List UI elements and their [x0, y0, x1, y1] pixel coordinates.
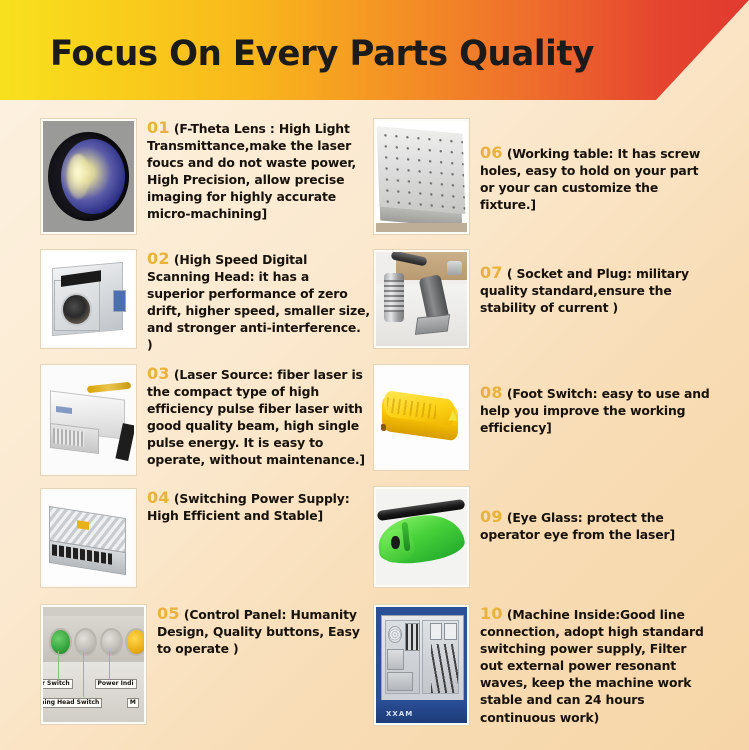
feature-number-02: 02: [147, 249, 170, 268]
feature-text-07: ( Socket and Plug: military quality stan…: [480, 266, 689, 315]
callout-line-1: [58, 651, 59, 683]
power-supply-module: [387, 672, 413, 691]
feature-number-01: 01: [147, 118, 170, 137]
panel-label-partial: M: [127, 698, 139, 708]
control-panel-thumbnail: r Switch Power Indi nning Head Switch M: [40, 604, 147, 725]
machine-inside-photo: MAXX: [376, 607, 467, 723]
feature-body-07: 07 ( Socket and Plug: military quality s…: [470, 249, 711, 316]
eye-glass-thumbnail: [373, 486, 470, 588]
feature-number-03: 03: [147, 364, 170, 383]
socket-and-plug-thumbnail: [373, 249, 470, 349]
lens-highlight: [67, 154, 91, 198]
laser-source-photo: [43, 367, 134, 473]
feature-body-03: 03 (Laser Source: fiber laser is the com…: [137, 364, 370, 469]
f-theta-lens-thumbnail: [40, 118, 137, 235]
panel-label-power-indicator: Power Indi: [95, 679, 137, 689]
feature-body-01: 01 (F-Theta Lens : High Light Transmitta…: [137, 118, 370, 223]
feature-body-09: 09 (Eye Glass: protect the operator eye …: [470, 486, 711, 543]
callout-line-3: [109, 651, 110, 683]
feature-item-06: 06 (Working table: It has screw holes, e…: [373, 118, 711, 235]
page-header: Focus On Every Parts Quality: [0, 0, 749, 100]
outlet-socket-2: [444, 623, 457, 640]
laser-source-cable: [86, 382, 130, 394]
wiring-harness: [431, 644, 458, 693]
socket-and-plug-photo: [376, 252, 467, 346]
feature-item-08: 08 (Foot Switch: easy to use and help yo…: [373, 364, 711, 471]
feature-number-04: 04: [147, 488, 170, 507]
circuit-breakers: [405, 623, 420, 651]
feature-text-05: (Control Panel: Humanity Design, Quality…: [157, 607, 360, 656]
feature-number-10: 10: [480, 604, 503, 623]
feature-number-07: 07: [480, 263, 503, 282]
working-table-photo: [376, 121, 467, 232]
feature-item-09: 09 (Eye Glass: protect the operator eye …: [373, 486, 711, 588]
feature-text-09: (Eye Glass: protect the operator eye fro…: [480, 510, 675, 542]
relay-block: [387, 649, 404, 671]
feature-text-01: (F-Theta Lens : High Light Transmittance…: [147, 121, 356, 221]
feature-item-03: 03 (Laser Source: fiber laser is the com…: [40, 364, 370, 476]
outlet-socket-1: [430, 623, 443, 640]
feature-text-02: (High Speed Digital Scanning Head: it ha…: [147, 252, 370, 352]
scanning-head-photo: [43, 252, 134, 346]
page-title: Focus On Every Parts Quality: [50, 34, 594, 74]
feature-item-07: 07 ( Socket and Plug: military quality s…: [373, 249, 711, 349]
feature-item-05: r Switch Power Indi nning Head Switch M …: [40, 604, 370, 725]
feature-text-10: (Machine Inside:Good line connection, ad…: [480, 607, 704, 725]
machine-inside-thumbnail: MAXX: [373, 604, 470, 726]
scan-head-aperture: [61, 293, 92, 325]
transformer-coil: [388, 626, 402, 643]
feature-text-03: (Laser Source: fiber laser is the compac…: [147, 367, 365, 467]
feature-body-02: 02 (High Speed Digital Scanning Head: it…: [137, 249, 370, 354]
feature-number-08: 08: [480, 383, 503, 402]
feature-item-10: MAXX 10 (Machine Inside:Good line connec…: [373, 604, 711, 726]
plug-mounting-flange: [415, 314, 450, 335]
working-table-thumbnail: [373, 118, 470, 235]
switching-power-supply-photo: [43, 491, 134, 585]
feature-number-09: 09: [480, 507, 503, 526]
feature-text-08: (Foot Switch: easy to use and help you i…: [480, 386, 710, 435]
feature-body-06: 06 (Working table: It has screw holes, e…: [470, 118, 711, 213]
feature-text-06: (Working table: It has screw holes, easy…: [480, 146, 700, 212]
power-indicator-button[interactable]: [100, 628, 123, 656]
eye-glass-photo: [376, 489, 467, 585]
scanning-head-thumbnail: [40, 249, 137, 349]
scan-head-connector: [113, 290, 126, 313]
control-panel-photo: r Switch Power Indi nning Head Switch M: [43, 607, 144, 722]
feature-item-02: 02 (High Speed Digital Scanning Head: it…: [40, 249, 370, 354]
feature-number-05: 05: [157, 604, 180, 623]
feature-body-08: 08 (Foot Switch: easy to use and help yo…: [470, 364, 711, 436]
machine-brand-text: MAXX: [385, 710, 412, 718]
foot-switch-photo: [376, 367, 467, 468]
feature-body-05: 05 (Control Panel: Humanity Design, Qual…: [147, 604, 370, 657]
yellow-emergency-button[interactable]: [125, 628, 144, 656]
green-power-button[interactable]: [49, 628, 72, 656]
laser-source-thumbnail: [40, 364, 137, 476]
feature-body-10: 10 (Machine Inside:Good line connection,…: [470, 604, 711, 726]
foot-switch-cable-port: [381, 423, 386, 431]
feature-number-06: 06: [480, 143, 503, 162]
f-theta-lens-photo: [43, 121, 134, 232]
feature-body-04: 04 (Switching Power Supply: High Efficie…: [137, 488, 370, 524]
mounting-screw: [447, 261, 462, 274]
feature-item-04: 04 (Switching Power Supply: High Efficie…: [40, 488, 370, 588]
feature-text-04: (Switching Power Supply: High Efficient …: [147, 491, 350, 523]
table-hole-grid-surface: [376, 126, 464, 214]
laser-source-vents: [53, 428, 84, 447]
panel-label-scanning-head-switch: nning Head Switch: [43, 698, 102, 708]
feature-item-01: 01 (F-Theta Lens : High Light Transmitta…: [40, 118, 370, 235]
socket-knurled-rings: [384, 280, 404, 312]
panel-label-laser-switch: r Switch: [43, 679, 73, 689]
callout-line-2: [83, 651, 84, 697]
table-floor-background: [376, 223, 467, 232]
foot-switch-thumbnail: [373, 364, 470, 471]
switching-power-supply-thumbnail: [40, 488, 137, 588]
glasses-nose-pad: [391, 536, 399, 549]
content-columns: 01 (F-Theta Lens : High Light Transmitta…: [0, 106, 749, 750]
